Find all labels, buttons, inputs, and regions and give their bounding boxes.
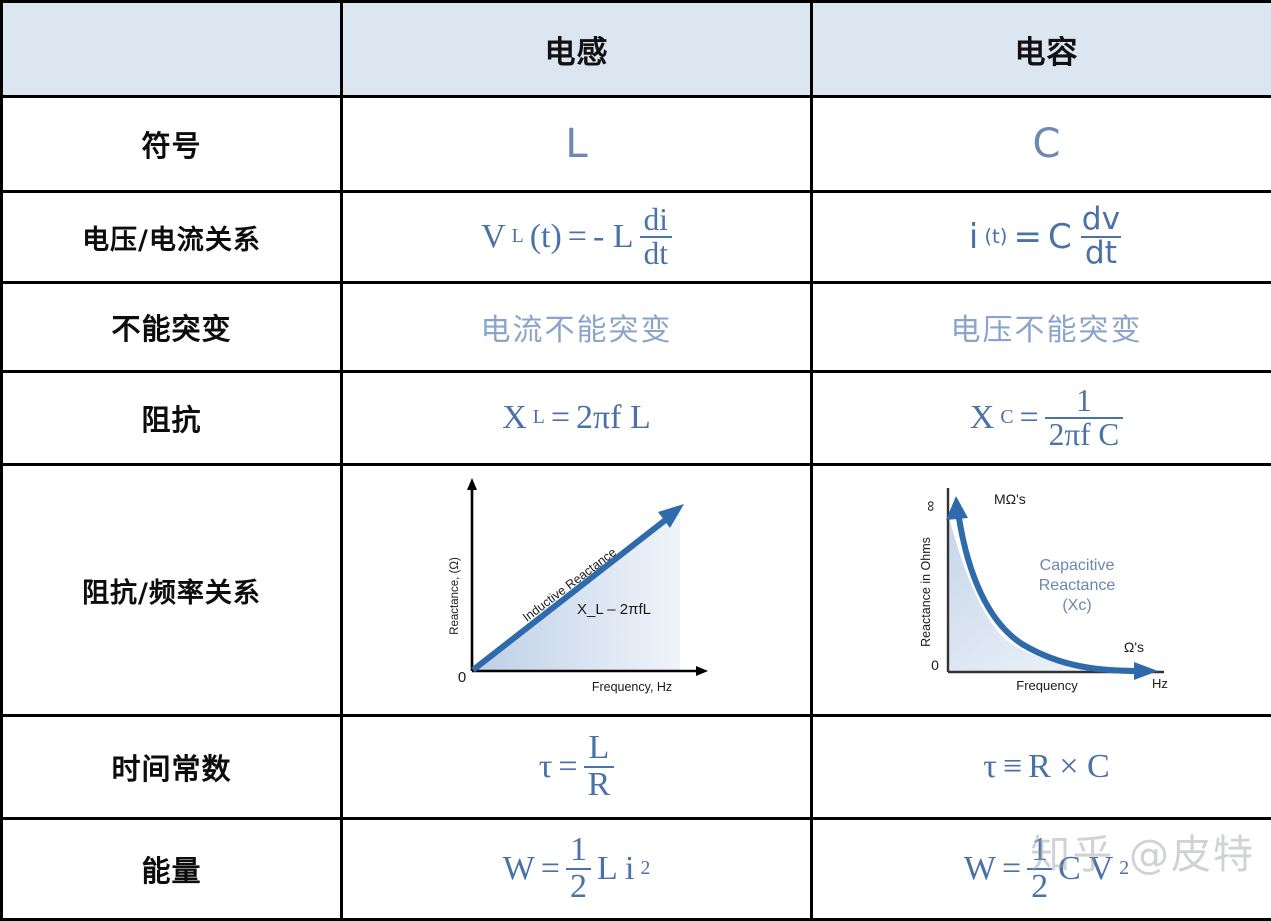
formula-equals: = xyxy=(551,401,570,435)
fraction-numerator: dv xyxy=(1078,204,1124,236)
formula-i: i xyxy=(969,220,978,254)
cell-time-constant-inductor: τ = L R xyxy=(342,716,812,819)
formula-fraction-xc: 1 2πf C xyxy=(1045,385,1124,451)
formula-equals: = xyxy=(558,750,577,784)
chart-center-label-line1: Capacitive xyxy=(1039,557,1114,574)
formula-equals: = xyxy=(1020,401,1039,435)
cell-time-constant-capacitor: τ ≡ R × C xyxy=(812,716,1271,819)
formula-W: W xyxy=(503,852,535,886)
chart-high-reactance-label: MΩ's xyxy=(994,491,1026,507)
formula-X: X xyxy=(502,401,527,435)
header-cell-capacitor: 电容 xyxy=(812,2,1271,97)
formula-tau: τ xyxy=(539,750,553,784)
capacitor-impedance-formula: XC = 1 2πf C xyxy=(970,385,1123,451)
formula-fraction-one-half: 1 2 xyxy=(1027,833,1052,904)
cell-chart-inductive: 0 Reactance, (Ω) Frequency, Hz Inductive… xyxy=(342,465,812,716)
chart-low-reactance-label: Ω's xyxy=(1123,639,1143,655)
curve-top-arrowhead xyxy=(946,496,968,520)
formula-rest: C V xyxy=(1058,852,1113,886)
fraction-denominator: 2 xyxy=(566,868,591,905)
fraction-numerator: 1 xyxy=(1027,833,1052,868)
table-row-impedance-frequency: 阻抗/频率关系 xyxy=(2,465,1271,716)
formula-X-subscript: L xyxy=(533,408,545,428)
formula-V-subscript: L xyxy=(512,227,524,247)
chart-center-label-line3: (Xc) xyxy=(1062,597,1091,614)
formula-i-subscript: (t) xyxy=(984,227,1007,247)
row-label-text: 阻抗 xyxy=(141,403,201,437)
capacitor-energy-formula: W = 1 2 C V2 xyxy=(964,833,1129,904)
chart-y-axis-label: Reactance, (Ω) xyxy=(449,557,461,635)
chart-y-bottom-label: 0 xyxy=(931,657,939,673)
formula-coefficient: - L xyxy=(593,220,634,254)
row-label-text: 不能突变 xyxy=(111,312,231,346)
row-label-symbol: 符号 xyxy=(2,97,342,192)
formula-equals: = xyxy=(541,852,560,886)
row-label-time-constant: 时间常数 xyxy=(2,716,342,819)
row-label-no-abrupt-change: 不能突变 xyxy=(2,283,342,372)
capacitor-vi-formula: i(t) = C dv dt xyxy=(969,204,1124,270)
table-row-voltage-current: 电压/电流关系 VL(t) = - L di dt i(t) = C dv dt xyxy=(2,192,1271,283)
capacitor-time-constant-formula: τ ≡ R × C xyxy=(983,750,1109,784)
formula-fraction-didt: di dt xyxy=(640,204,672,270)
formula-equals: = xyxy=(1002,852,1021,886)
row-label-impedance-frequency: 阻抗/频率关系 xyxy=(2,465,342,716)
formula-coefficient: C xyxy=(1048,220,1072,254)
inductor-no-abrupt-text: 电流不能突变 xyxy=(481,313,673,348)
table-row-symbol: 符号 L C xyxy=(2,97,1271,192)
formula-rhs: R × C xyxy=(1028,750,1110,784)
table-row-no-abrupt-change: 不能突变 电流不能突变 电压不能突变 xyxy=(2,283,1271,372)
inductive-chart-svg: 0 Reactance, (Ω) Frequency, Hz Inductive… xyxy=(432,466,722,701)
formula-equals: ≡ xyxy=(1003,750,1022,784)
formula-fraction-one-half: 1 2 xyxy=(566,833,591,904)
row-label-text: 电压/电流关系 xyxy=(82,225,261,256)
cell-impedance-inductor: XL = 2πf L xyxy=(342,372,812,465)
row-label-text: 时间常数 xyxy=(111,752,231,786)
inductor-energy-formula: W = 1 2 L i2 xyxy=(503,833,651,904)
chart-annotation-formula: X_L – 2πfL xyxy=(576,601,650,618)
inductive-reactance-chart: 0 Reactance, (Ω) Frequency, Hz Inductive… xyxy=(343,466,810,714)
x-axis-arrow xyxy=(696,666,708,676)
header-cell-inductor: 电感 xyxy=(342,2,812,97)
formula-X-subscript: C xyxy=(1000,408,1013,428)
fraction-numerator: di xyxy=(640,204,672,236)
formula-rest: L i xyxy=(597,852,634,886)
capacitor-no-abrupt-text: 电压不能突变 xyxy=(951,313,1143,348)
chart-y-top-label: ∞ xyxy=(922,500,939,511)
fraction-numerator: L xyxy=(585,731,614,766)
formula-equals: = xyxy=(1013,220,1042,254)
cell-energy-capacitor: W = 1 2 C V2 xyxy=(812,819,1271,920)
formula-W: W xyxy=(964,852,996,886)
fraction-denominator: dt xyxy=(1081,236,1121,270)
cell-symbol-capacitor: C xyxy=(812,97,1271,192)
cell-symbol-inductor: L xyxy=(342,97,812,192)
header-inductor-label: 电感 xyxy=(545,35,609,71)
table-row-energy: 能量 W = 1 2 L i2 W = 1 2 C V2 xyxy=(2,819,1271,920)
inductor-time-constant-formula: τ = L R xyxy=(539,731,615,802)
formula-tau: τ xyxy=(983,750,997,784)
formula-exponent: 2 xyxy=(640,859,650,879)
chart-x-axis-label: Frequency xyxy=(1016,678,1078,693)
row-label-text: 能量 xyxy=(141,854,201,888)
formula-fraction-dvdt: dv dt xyxy=(1078,204,1124,270)
chart-origin-label: 0 xyxy=(457,669,465,686)
fraction-numerator: 1 xyxy=(566,833,591,868)
inductor-vi-formula: VL(t) = - L di dt xyxy=(481,204,672,270)
chart-x-unit-label: Hz xyxy=(1152,676,1168,691)
cell-chart-capacitive: ∞ 0 Reactance in Ohms Frequency Hz MΩ's … xyxy=(812,465,1271,716)
table-row-time-constant: 时间常数 τ = L R τ ≡ R × C xyxy=(2,716,1271,819)
inductor-capacitor-comparison-table: 电感 电容 符号 L C 电压/电流关系 VL(t) = - L di xyxy=(0,0,1271,921)
cell-vi-inductor: VL(t) = - L di dt xyxy=(342,192,812,283)
row-label-impedance: 阻抗 xyxy=(2,372,342,465)
cell-no-abrupt-inductor: 电流不能突变 xyxy=(342,283,812,372)
formula-V: V xyxy=(481,220,506,254)
capacitive-chart-svg: ∞ 0 Reactance in Ohms Frequency Hz MΩ's … xyxy=(902,466,1192,701)
header-capacitor-label: 电容 xyxy=(1015,35,1079,71)
table-header-row: 电感 电容 xyxy=(2,2,1271,97)
row-label-text: 符号 xyxy=(141,129,201,163)
fraction-denominator: dt xyxy=(640,236,672,270)
fraction-denominator: R xyxy=(584,766,615,803)
header-cell-blank xyxy=(2,2,342,97)
formula-rhs: 2πf L xyxy=(576,401,651,435)
inductor-impedance-formula: XL = 2πf L xyxy=(502,401,651,435)
cell-vi-capacitor: i(t) = C dv dt xyxy=(812,192,1271,283)
table-row-impedance: 阻抗 XL = 2πf L XC = 1 2πf C xyxy=(2,372,1271,465)
formula-equals: = xyxy=(568,220,587,254)
chart-center-label-line2: Reactance xyxy=(1038,577,1115,594)
cell-impedance-capacitor: XC = 1 2πf C xyxy=(812,372,1271,465)
chart-x-axis-label: Frequency, Hz xyxy=(591,680,671,694)
cell-energy-inductor: W = 1 2 L i2 xyxy=(342,819,812,920)
inductor-symbol-value: L xyxy=(565,121,587,167)
capacitive-reactance-chart: ∞ 0 Reactance in Ohms Frequency Hz MΩ's … xyxy=(813,466,1271,714)
fraction-denominator: 2πf C xyxy=(1045,417,1124,451)
formula-exponent: 2 xyxy=(1119,859,1129,879)
row-label-text: 阻抗/频率关系 xyxy=(82,578,261,609)
row-label-energy: 能量 xyxy=(2,819,342,920)
fraction-denominator: 2 xyxy=(1027,868,1052,905)
capacitor-symbol-value: C xyxy=(1033,121,1061,167)
cell-no-abrupt-capacitor: 电压不能突变 xyxy=(812,283,1271,372)
y-axis-arrow xyxy=(467,478,477,490)
formula-arg: (t) xyxy=(530,220,562,254)
fraction-numerator: 1 xyxy=(1072,385,1096,417)
chart-y-axis-label: Reactance in Ohms xyxy=(919,537,933,647)
comparison-sheet: 电感 电容 符号 L C 电压/电流关系 VL(t) = - L di xyxy=(0,0,1271,898)
formula-fraction-l-over-r: L R xyxy=(584,731,615,802)
row-label-voltage-current: 电压/电流关系 xyxy=(2,192,342,283)
formula-X: X xyxy=(970,401,995,435)
